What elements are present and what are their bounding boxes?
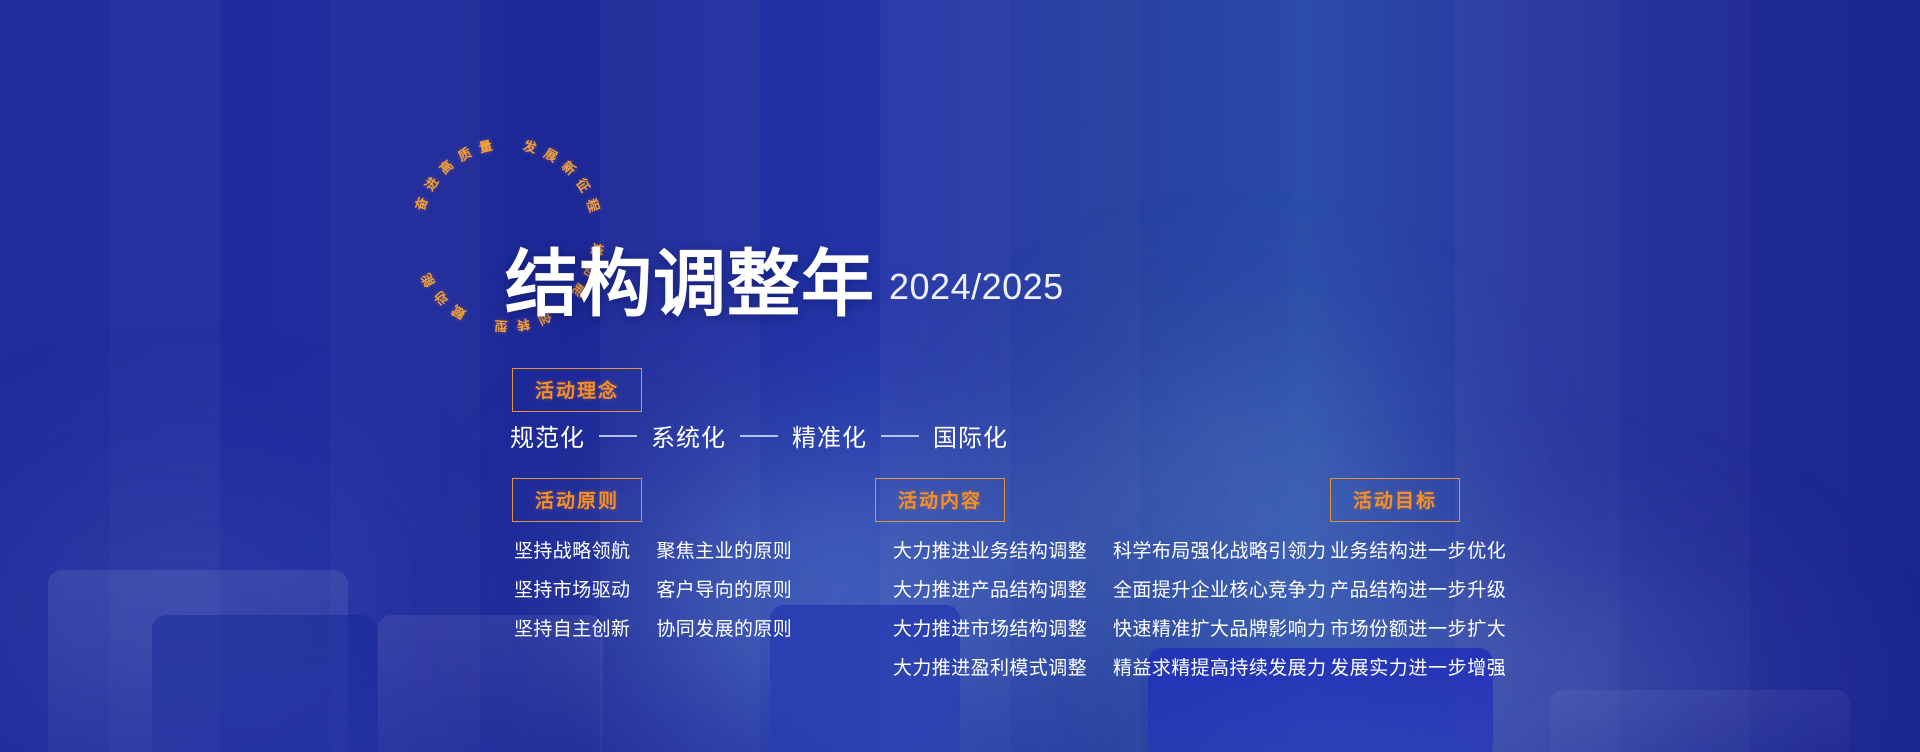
list-item-text: 聚焦主业的原则 <box>656 536 792 563</box>
section-content-list: 大力推进业务结构调整 科学布局强化战略引领力 大力推进产品结构调整 全面提升企业… <box>893 536 1326 692</box>
ring-char-glyph: 赋 <box>448 302 469 325</box>
ring-char-glyph: 程 <box>583 196 605 214</box>
section-principles-list: 坚持战略领航 聚焦主业的原则 坚持市场驱动 客户导向的原则 坚持自主创新 协同发… <box>514 536 792 653</box>
ring-char-glyph: 奋 <box>409 194 431 213</box>
list-item-text: 大力推进产品结构调整 <box>893 575 1087 602</box>
badge-label: 活动目标 <box>1353 486 1437 513</box>
list-item-text: 坚持战略领航 <box>514 536 630 563</box>
list-item-text: 坚持市场驱动 <box>514 575 630 602</box>
list-item: 坚持自主创新 协同发展的原则 <box>514 614 792 641</box>
ring-char-glyph: 新 <box>558 156 580 179</box>
list-item: 产品结构进一步升级 <box>1330 575 1506 602</box>
list-item-text: 科学布局强化战略引领力 <box>1113 536 1326 563</box>
list-item-text: 坚持自主创新 <box>514 614 630 641</box>
badge-activity-content[interactable]: 活动内容 <box>875 478 1005 522</box>
ring-char-glyph: 能 <box>416 270 439 291</box>
list-item-text: 大力推进市场结构调整 <box>893 614 1087 641</box>
concept-item: 系统化 <box>651 418 726 453</box>
ring-char-glyph: 征 <box>573 174 596 195</box>
ring-char-glyph: 质 <box>454 142 474 165</box>
concept-items-row: 规范化 系统化 精准化 国际化 <box>510 418 1008 453</box>
separator-dash <box>740 435 778 437</box>
badge-activity-principles[interactable]: 活动原则 <box>512 478 642 522</box>
list-item-text: 协同发展的原则 <box>656 614 792 641</box>
list-item-text: 产品结构进一步升级 <box>1330 575 1506 602</box>
page-title: 结构调整年 2024/2025 <box>505 250 1064 320</box>
decorative-building-block <box>1550 690 1850 752</box>
separator-dash <box>881 435 919 437</box>
concept-item: 精准化 <box>792 418 867 453</box>
list-item-text: 精益求精提高持续发展力 <box>1113 653 1326 680</box>
list-item-text: 大力推进盈利模式调整 <box>893 653 1087 680</box>
ring-char-glyph: 进 <box>419 173 442 194</box>
decorative-building-block <box>152 615 377 752</box>
list-item: 业务结构进一步优化 <box>1330 536 1506 563</box>
concept-item: 国际化 <box>933 418 1008 453</box>
list-item-text: 市场份额进一步扩大 <box>1330 614 1506 641</box>
list-item-text: 大力推进业务结构调整 <box>893 536 1087 563</box>
concept-item: 规范化 <box>510 418 585 453</box>
badge-label: 活动原则 <box>535 486 619 513</box>
ring-char-glyph: 高 <box>434 155 456 178</box>
headline-chinese: 结构调整年 <box>505 250 875 320</box>
list-item-text: 业务结构进一步优化 <box>1330 536 1506 563</box>
list-item: 坚持市场驱动 客户导向的原则 <box>514 575 792 602</box>
list-item: 大力推进业务结构调整 科学布局强化战略引领力 <box>893 536 1326 563</box>
list-item-text: 客户导向的原则 <box>656 575 792 602</box>
list-item: 坚持战略领航 聚焦主业的原则 <box>514 536 792 563</box>
badge-activity-goals[interactable]: 活动目标 <box>1330 478 1460 522</box>
list-item-text: 全面提升企业核心竞争力 <box>1113 575 1326 602</box>
list-item: 大力推进盈利模式调整 精益求精提高持续发展力 <box>893 653 1326 680</box>
badge-label: 活动内容 <box>898 486 982 513</box>
separator-dash <box>599 435 637 437</box>
list-item: 发展实力进一步增强 <box>1330 653 1506 680</box>
headline-year: 2024/2025 <box>889 266 1064 308</box>
list-item: 市场份额进一步扩大 <box>1330 614 1506 641</box>
ring-char-glyph: 展 <box>541 143 562 166</box>
list-item-text: 发展实力进一步增强 <box>1330 653 1506 680</box>
banner-root: 奋进高质量发展新征程增动能创转型赋动能 结构调整年 2024/2025 活动理念… <box>0 0 1920 752</box>
badge-label: 活动理念 <box>535 376 619 403</box>
badge-activity-concept[interactable]: 活动理念 <box>512 368 642 412</box>
list-item-text: 快速精准扩大品牌影响力 <box>1113 614 1326 641</box>
list-item: 大力推进产品结构调整 全面提升企业核心竞争力 <box>893 575 1326 602</box>
ring-char: 能 <box>507 235 508 236</box>
list-item: 大力推进市场结构调整 快速精准扩大品牌影响力 <box>893 614 1326 641</box>
ring-char-glyph: 动 <box>429 288 452 311</box>
section-goals-list: 业务结构进一步优化 产品结构进一步升级 市场份额进一步扩大 发展实力进一步增强 <box>1330 536 1506 692</box>
